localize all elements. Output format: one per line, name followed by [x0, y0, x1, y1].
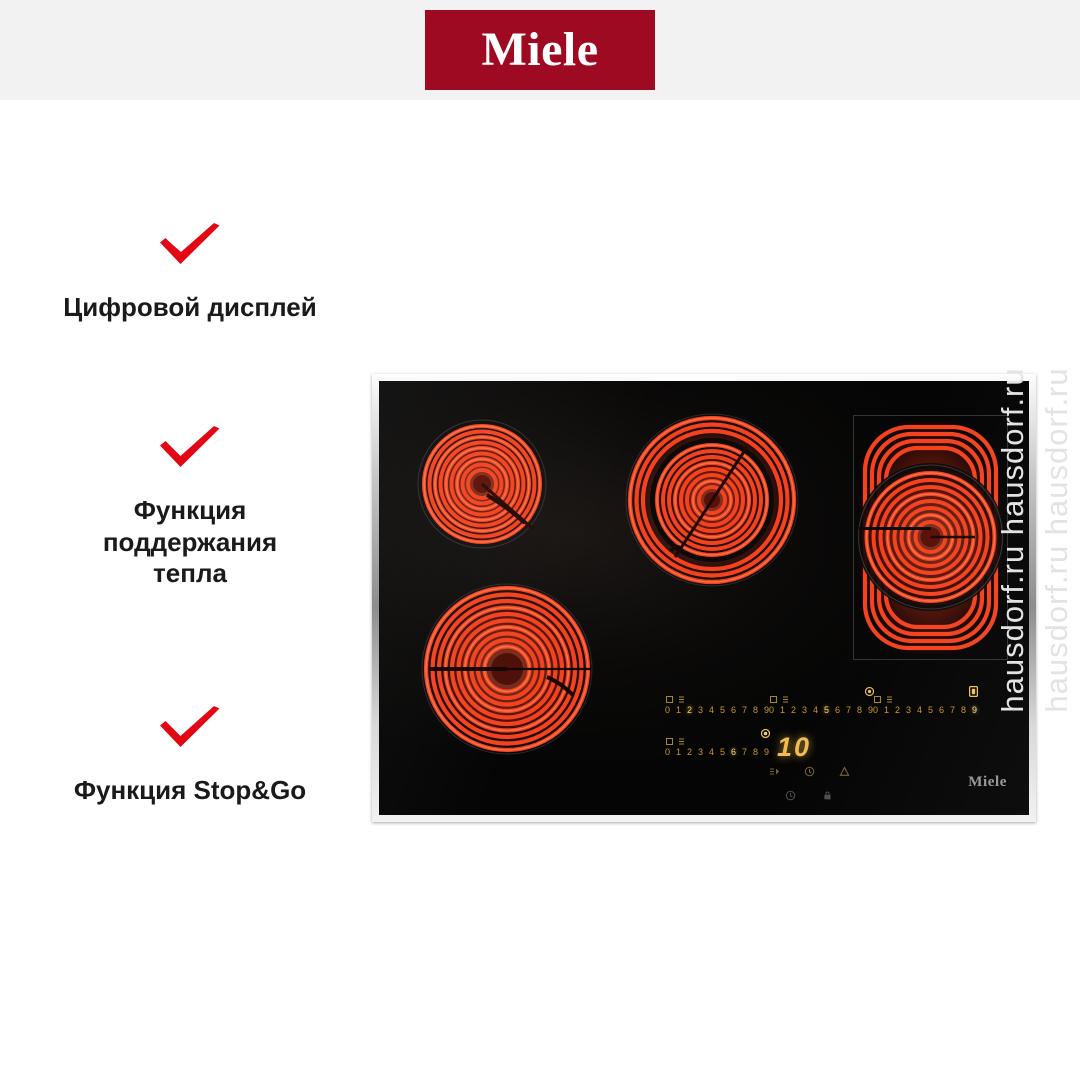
clock-icon[interactable]	[785, 790, 796, 801]
watermark-column-outer: hausdorf.ru hausdorf.ru	[1034, 0, 1080, 1080]
cooktop-glass-surface: 0 1 2 3 4 5 6 7 8 9	[379, 381, 1029, 815]
digit[interactable]: 1	[676, 748, 681, 757]
slider-rear-right[interactable]: 0 1 2 3 4 5 6 7 8 9	[873, 696, 977, 715]
burner-top-left[interactable]	[415, 417, 549, 551]
slider-digit-scale[interactable]: 0 1 2 3 4 5 6 7 8 9	[665, 706, 769, 715]
feature-item-keep-warm: Функция поддержания тепла	[10, 425, 370, 590]
digit[interactable]: 3	[906, 706, 911, 715]
burner-bottom-left[interactable]	[419, 581, 595, 757]
digit[interactable]: 3	[698, 706, 703, 715]
digit[interactable]: 9	[764, 748, 769, 757]
digit[interactable]: 4	[917, 706, 922, 715]
digit[interactable]: 7	[950, 706, 955, 715]
digit[interactable]: 5	[928, 706, 933, 715]
digital-display-value: 10	[777, 734, 811, 761]
slider-icon-group	[666, 696, 769, 703]
digit[interactable]: 4	[709, 748, 714, 757]
slider-front-left[interactable]: 0 1 2 3 4 5 6 7 8 9	[665, 738, 769, 757]
keep-warm-icon[interactable]	[769, 766, 780, 777]
timer-icon[interactable]	[804, 766, 815, 777]
slider-rear-left[interactable]: 0 1 2 3 4 5 6 7 8 9	[665, 696, 769, 715]
digit[interactable]: 7	[742, 706, 747, 715]
digit[interactable]: 8	[857, 706, 862, 715]
watermark-text: hausdorf.ru hausdorf.ru	[1039, 0, 1075, 1080]
digit[interactable]: 8	[961, 706, 966, 715]
digit[interactable]: 1	[884, 706, 889, 715]
zone-small-icon	[666, 738, 673, 745]
lock-icon[interactable]	[822, 790, 833, 801]
digit[interactable]: 3	[802, 706, 807, 715]
keep-warm-icon	[782, 696, 789, 703]
feature-label: Функция Stop&Go	[74, 775, 306, 807]
slider-digit-scale[interactable]: 0 1 2 3 4 5 6 7 8 9	[769, 706, 873, 715]
check-icon	[157, 222, 223, 270]
stop-and-go-icon[interactable]	[839, 766, 850, 777]
check-icon	[157, 705, 223, 753]
cooktop-brand-label: Miele	[968, 774, 1007, 791]
digit[interactable]: 5	[824, 706, 829, 715]
digit[interactable]: 5	[720, 706, 725, 715]
digit[interactable]: 6	[835, 706, 840, 715]
digit[interactable]: 9	[972, 706, 977, 715]
digit[interactable]: 7	[742, 748, 747, 757]
keep-warm-icon	[678, 696, 685, 703]
zone-small-icon	[770, 696, 777, 703]
digit[interactable]: 2	[687, 748, 692, 757]
zone-extension-icon[interactable]	[969, 686, 978, 697]
slider-icon-group	[874, 696, 977, 703]
digit[interactable]: 6	[731, 748, 736, 757]
miele-brand-logo: Miele	[425, 10, 655, 90]
slider-digit-scale[interactable]: 0 1 2 3 4 5 6 7 8 9	[665, 748, 769, 757]
digit[interactable]: 1	[780, 706, 785, 715]
digit[interactable]: 6	[731, 706, 736, 715]
feature-item-digital-display: Цифровой дисплей	[10, 222, 370, 324]
digit[interactable]: 4	[709, 706, 714, 715]
booster-icon[interactable]	[761, 728, 770, 739]
digit[interactable]: 1	[676, 706, 681, 715]
digit[interactable]: 3	[698, 748, 703, 757]
zone-small-icon	[874, 696, 881, 703]
digit[interactable]: 4	[813, 706, 818, 715]
slider-icon-group	[770, 696, 873, 703]
keep-warm-icon	[678, 738, 685, 745]
zone-small-icon	[666, 696, 673, 703]
digit[interactable]: 0	[665, 748, 670, 757]
burner-right-oval[interactable]	[857, 419, 1004, 656]
slider-digit-scale[interactable]: 0 1 2 3 4 5 6 7 8 9	[873, 706, 977, 715]
digit[interactable]: 7	[846, 706, 851, 715]
digit[interactable]: 8	[753, 748, 758, 757]
burner-center-dual[interactable]	[623, 411, 801, 589]
slider-icon-group	[666, 738, 769, 745]
check-icon	[157, 425, 223, 473]
digit[interactable]: 5	[720, 748, 725, 757]
feature-label: Функция поддержания тепла	[103, 495, 277, 590]
feature-label: Цифровой дисплей	[63, 292, 317, 324]
digit[interactable]: 0	[769, 706, 774, 715]
digit[interactable]: 8	[753, 706, 758, 715]
digit[interactable]: 2	[895, 706, 900, 715]
digit[interactable]: 2	[687, 706, 692, 715]
digit[interactable]: 0	[873, 706, 878, 715]
display-icon-row[interactable]	[769, 766, 850, 777]
digit[interactable]: 0	[665, 706, 670, 715]
digit[interactable]: 6	[939, 706, 944, 715]
cooktop-appliance: 0 1 2 3 4 5 6 7 8 9	[372, 374, 1036, 822]
bottom-icon-row[interactable]	[785, 790, 833, 801]
slider-rear-center[interactable]: 0 1 2 3 4 5 6 7 8 9	[769, 696, 873, 715]
control-panel[interactable]: 0 1 2 3 4 5 6 7 8 9	[665, 696, 965, 806]
feature-item-stop-and-go: Функция Stop&Go	[10, 705, 370, 807]
page-root: Miele Цифровой дисплей Функция поддержан…	[0, 0, 1080, 1080]
digit[interactable]: 2	[791, 706, 796, 715]
keep-warm-icon	[886, 696, 893, 703]
brand-logo-text: Miele	[481, 26, 598, 74]
